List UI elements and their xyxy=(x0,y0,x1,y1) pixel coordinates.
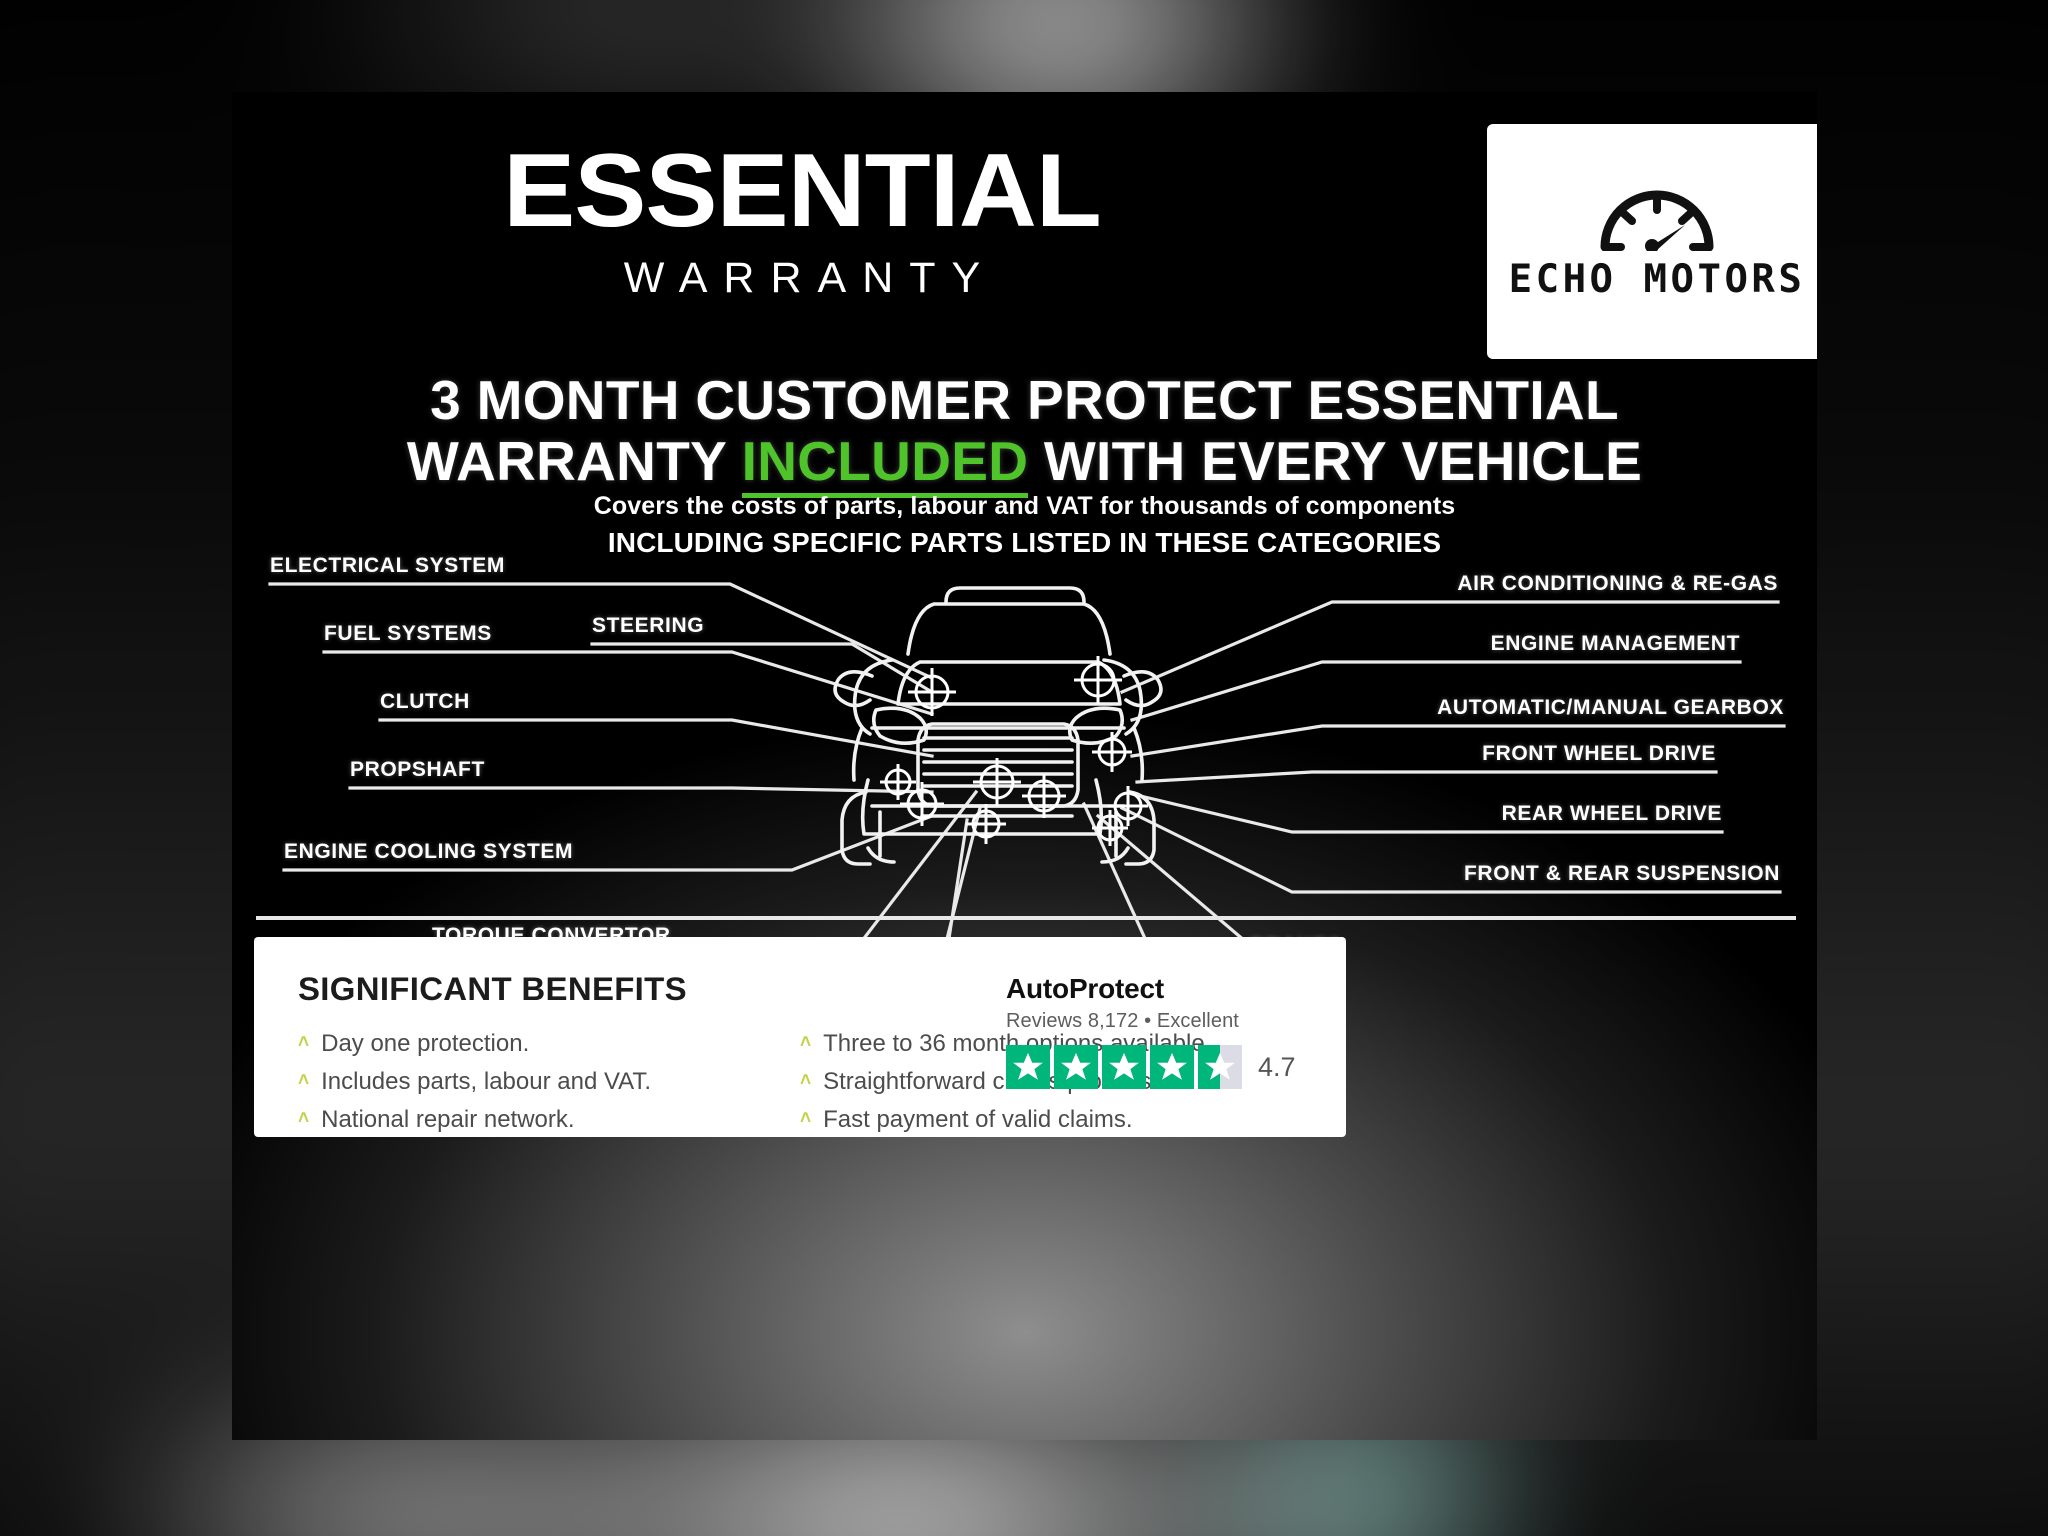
label-air-conditioning-re-gas: AIR CONDITIONING & RE-GAS xyxy=(1457,572,1778,596)
label-electrical-system: ELECTRICAL SYSTEM xyxy=(270,554,505,578)
label-propshaft: PROPSHAFT xyxy=(350,758,485,782)
list-item: ˄ National repair network. xyxy=(298,1106,800,1135)
label-automatic-manual-gearbox: AUTOMATIC/MANUAL GEARBOX xyxy=(1437,696,1784,720)
benefit-text: Day one protection. xyxy=(321,1030,529,1059)
label-engine-management: ENGINE MANAGEMENT xyxy=(1491,632,1740,656)
star-icon xyxy=(1150,1045,1194,1089)
chevron-up-icon: ˄ xyxy=(298,1068,309,1094)
star-icon xyxy=(1006,1045,1050,1089)
benefits-column-left: ˄ Day one protection. ˄ Includes parts, … xyxy=(298,1030,800,1143)
warranty-poster: ESSENTIAL WARRANTY ECHO MOTORS 3 MONTH C… xyxy=(232,92,1817,1440)
benefit-text: Fast payment of valid claims. xyxy=(823,1106,1132,1135)
coverage-diagram: ELECTRICAL SYSTEM FUEL SYSTEMS CLUTCH PR… xyxy=(232,92,1817,1440)
section-divider xyxy=(256,916,1796,920)
label-fuel-systems: FUEL SYSTEMS xyxy=(324,622,492,646)
rating-meta: Reviews 8,172 • Excellent xyxy=(1006,1010,1306,1033)
significant-benefits-card: SIGNIFICANT BENEFITS ˄ Day one protectio… xyxy=(254,937,1346,1137)
trustpilot-rating: AutoProtect Reviews 8,172 • Excellent 4.… xyxy=(1006,973,1306,1089)
star-icon xyxy=(1102,1045,1146,1089)
list-item: ˄ Day one protection. xyxy=(298,1030,800,1059)
label-rear-wheel-drive: REAR WHEEL DRIVE xyxy=(1502,802,1722,826)
label-front-wheel-drive: FRONT WHEEL DRIVE xyxy=(1482,742,1716,766)
rating-score: 4.7 xyxy=(1258,1052,1296,1083)
label-engine-cooling-system: ENGINE COOLING SYSTEM xyxy=(284,840,573,864)
list-item: ˄ Includes parts, labour and VAT. xyxy=(298,1068,800,1097)
chevron-up-icon: ˄ xyxy=(800,1030,811,1056)
rating-provider-name: AutoProtect xyxy=(1006,973,1306,1005)
chevron-up-icon: ˄ xyxy=(800,1106,811,1132)
star-rating: 4.7 xyxy=(1006,1045,1306,1089)
star-half-icon xyxy=(1198,1045,1242,1089)
label-steering: STEERING xyxy=(592,614,704,638)
star-icon xyxy=(1054,1045,1098,1089)
benefit-text: Includes parts, labour and VAT. xyxy=(321,1068,651,1097)
label-front-rear-suspension: FRONT & REAR SUSPENSION xyxy=(1464,862,1780,886)
list-item: ˄ Fast payment of valid claims. xyxy=(800,1106,1302,1135)
chevron-up-icon: ˄ xyxy=(800,1068,811,1094)
chevron-up-icon: ˄ xyxy=(298,1030,309,1056)
benefit-text: National repair network. xyxy=(321,1106,574,1135)
chevron-up-icon: ˄ xyxy=(298,1106,309,1132)
label-clutch: CLUTCH xyxy=(380,690,470,714)
